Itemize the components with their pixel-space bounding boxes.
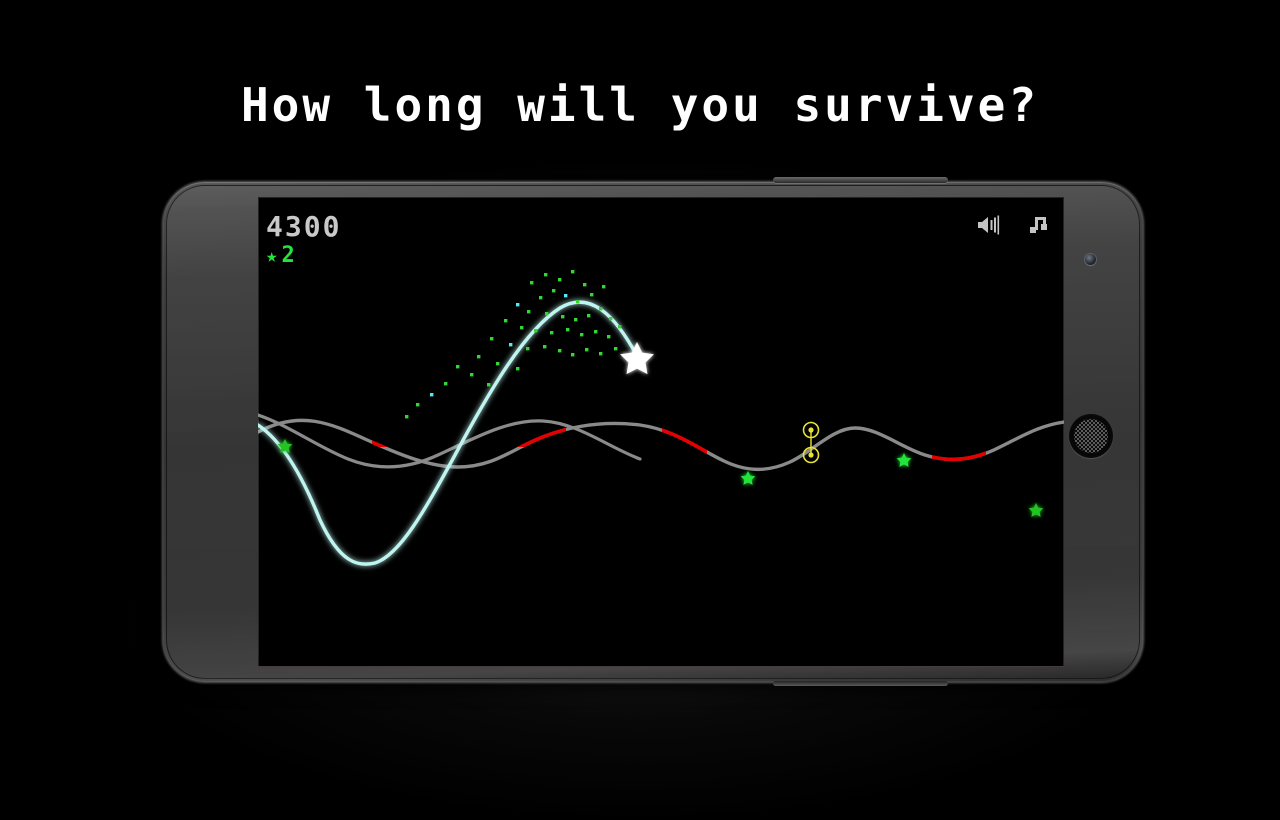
top-speaker-slot — [773, 177, 948, 183]
danger-segments — [258, 420, 1064, 469]
bottom-speaker-slot — [773, 681, 948, 686]
screen-bottom-edge — [258, 666, 1064, 667]
game-canvas[interactable] — [258, 197, 1064, 667]
speaker-volume-icon[interactable] — [976, 214, 1002, 236]
star-count-label: 2 — [281, 245, 294, 267]
phone-screen[interactable]: 4300 ★ 2 — [258, 197, 1064, 667]
score-display: 4300 — [266, 213, 341, 241]
music-note-icon[interactable] — [1026, 213, 1050, 237]
player-trail — [258, 302, 637, 564]
star-icon: ★ — [266, 247, 277, 266]
player-star — [620, 342, 654, 374]
round-speaker-grille — [1069, 414, 1113, 458]
screenshot-stage: How long will you survive? — [0, 0, 1280, 800]
star-counter: ★ 2 — [266, 245, 295, 267]
collectible-star — [897, 453, 912, 467]
yellow-ring-gate[interactable] — [804, 423, 819, 463]
collectible-star — [741, 471, 756, 485]
collectible-star — [1029, 503, 1044, 517]
page-title: How long will you survive? — [0, 78, 1280, 132]
smartphone-mockup: 4300 ★ 2 — [163, 182, 1143, 682]
hud-icon-group — [976, 213, 1050, 237]
front-camera-icon — [1085, 254, 1096, 265]
particle-burst — [405, 270, 621, 418]
